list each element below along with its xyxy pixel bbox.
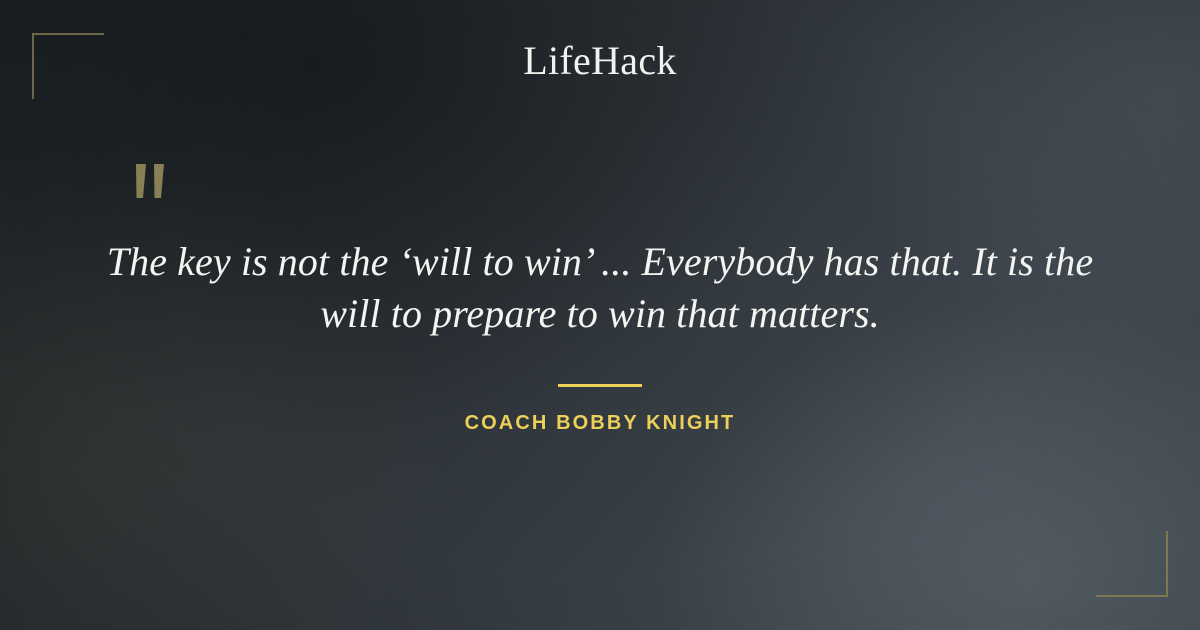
quote-card: LifeHack The key is not the ‘will to win… [0, 0, 1200, 630]
attribution-block: COACH BOBBY KNIGHT [0, 412, 1200, 435]
quote-text: The key is not the ‘will to win’ ... Eve… [100, 236, 1100, 340]
quote-block: The key is not the ‘will to win’ ... Eve… [100, 236, 1100, 340]
divider-rule [558, 384, 642, 387]
brand-header: LifeHack [0, 41, 1200, 81]
lifehack-logo: LifeHack [523, 41, 676, 81]
quotation-mark-icon [130, 158, 176, 218]
attribution-author-name: COACH BOBBY KNIGHT [465, 412, 736, 434]
